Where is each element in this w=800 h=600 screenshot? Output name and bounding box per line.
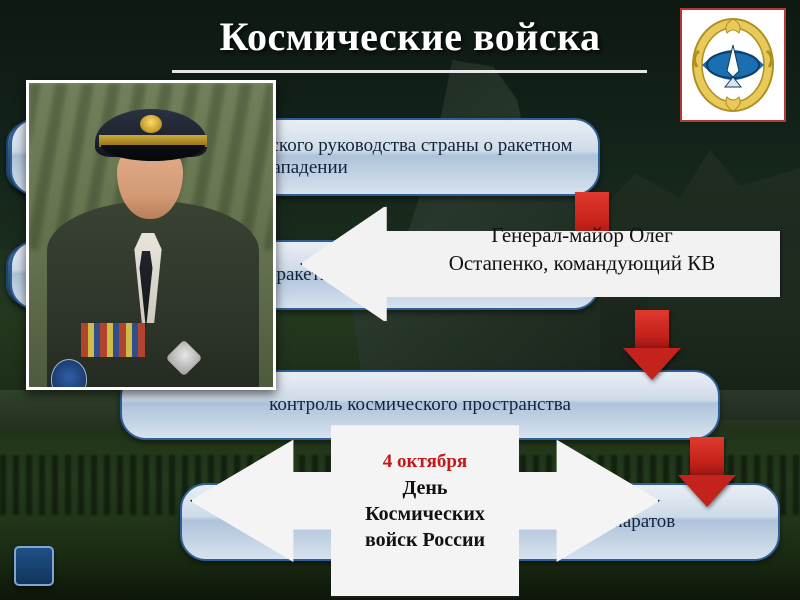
officer-callout-text: Генерал-майор Олег Остапенко, командующи… xyxy=(382,222,782,277)
red-arrow-3-head xyxy=(678,475,736,507)
photo-medal-ribbons xyxy=(81,323,145,357)
holiday-line3: войск России xyxy=(330,527,520,553)
holiday-callout-text: 4 октября День Космических войск России xyxy=(330,450,520,553)
officer-callout-line2: Остапенко, командующий КВ xyxy=(382,250,782,278)
red-arrow-2-shaft xyxy=(635,310,669,352)
slide-canvas: Космические войска …высшего военно-полит… xyxy=(0,0,800,600)
officer-photo: officer-portrait xyxy=(26,80,276,390)
red-arrow-2-head xyxy=(623,348,681,380)
emblem-svg xyxy=(687,15,779,115)
holiday-line2: Космических xyxy=(330,501,520,527)
slide-title: Космические войска xyxy=(150,16,670,58)
title-underline xyxy=(172,70,647,73)
red-arrow-3-shaft xyxy=(690,437,724,479)
holiday-line1: День xyxy=(330,475,520,501)
emblem-artwork xyxy=(687,15,779,115)
space-forces-emblem xyxy=(680,8,786,122)
holiday-date: 4 октября xyxy=(330,450,520,475)
officer-callout-line1: Генерал-майор Олег xyxy=(382,222,782,250)
photo-cap-cockade-icon xyxy=(140,115,162,133)
back-nav-button[interactable]: undo-arrow-icon xyxy=(14,546,54,586)
content-bar-3-text: контроль космического пространства xyxy=(269,394,571,416)
